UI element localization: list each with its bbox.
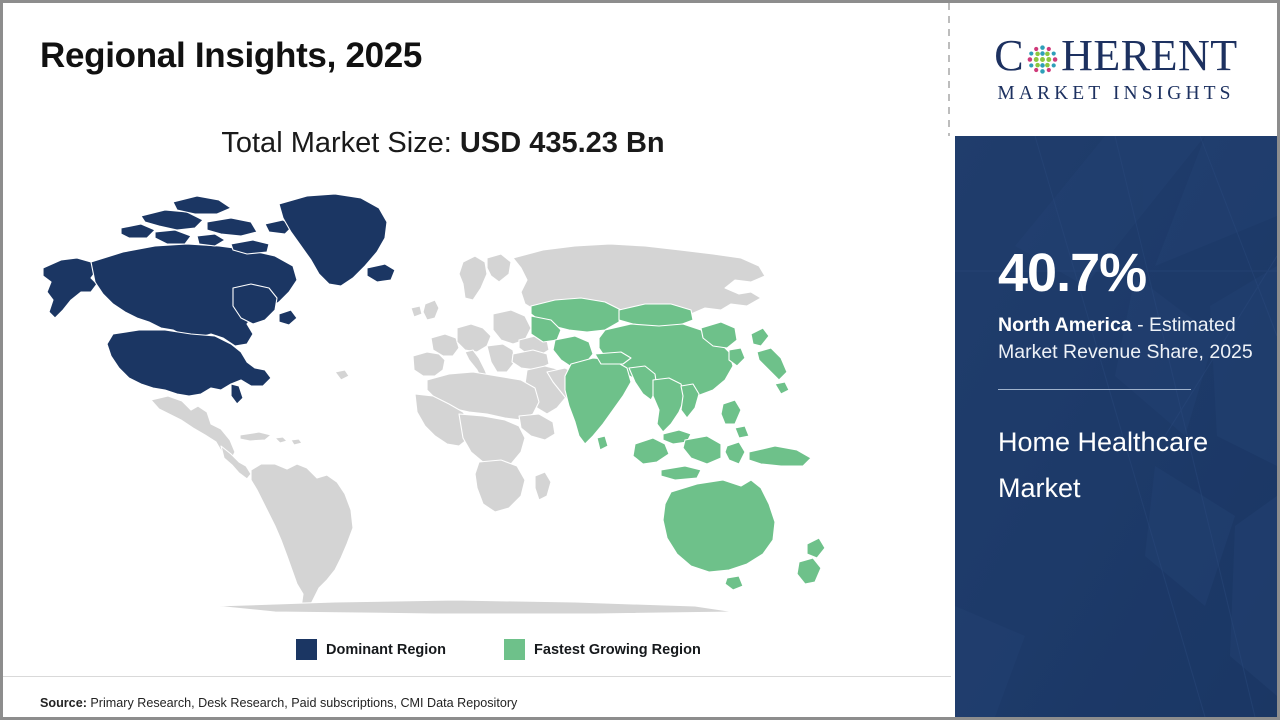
legend-label-dominant: Dominant Region <box>326 642 446 658</box>
dominant-swatch-icon <box>296 639 317 660</box>
map-region-asia-pacific <box>531 298 825 590</box>
left-content-pane: Regional Insights, 2025 Total Market Siz… <box>3 3 951 717</box>
infographic-frame: Regional Insights, 2025 Total Market Siz… <box>0 0 1280 720</box>
total-market-size: Total Market Size: USD 435.23 Bn <box>3 127 883 160</box>
legend-item-fastest-growing[interactable]: Fastest Growing Region <box>504 639 701 660</box>
total-market-size-value: USD 435.23 Bn <box>460 127 665 159</box>
share-caption: North America - Estimated Market Revenue… <box>998 312 1260 365</box>
legend-item-dominant[interactable]: Dominant Region <box>296 639 446 660</box>
map-legend: Dominant Region Fastest Growing Region <box>296 639 701 660</box>
legend-label-fastest-growing: Fastest Growing Region <box>534 642 701 658</box>
stats-panel: 40.7% North America - Estimated Market R… <box>955 136 1277 717</box>
dotted-globe-icon <box>1025 41 1060 76</box>
share-value: 40.7% <box>998 246 1260 300</box>
stats-panel-content: 40.7% North America - Estimated Market R… <box>998 246 1260 511</box>
footer-divider <box>3 676 951 677</box>
panel-divider <box>998 389 1191 390</box>
source-text: Primary Research, Desk Research, Paid su… <box>87 696 517 710</box>
total-market-size-label: Total Market Size: <box>221 127 451 159</box>
market-name: Home Healthcare Market <box>998 420 1260 511</box>
logo-wordmark: C <box>994 34 1237 78</box>
logo-subtitle: MARKET INSIGHTS <box>997 83 1234 105</box>
page-title: Regional Insights, 2025 <box>40 36 422 76</box>
logo-word-herent: HERENT <box>1061 34 1238 78</box>
logo-letter-c: C <box>994 34 1024 78</box>
source-note: Source: Primary Research, Desk Research,… <box>40 696 517 710</box>
world-map[interactable] <box>35 188 835 618</box>
fastest-growing-swatch-icon <box>504 639 525 660</box>
brand-logo[interactable]: C <box>955 3 1277 136</box>
source-label: Source: <box>40 696 87 710</box>
share-region-name: North America <box>998 314 1132 336</box>
vertical-dashed-divider <box>948 3 950 136</box>
